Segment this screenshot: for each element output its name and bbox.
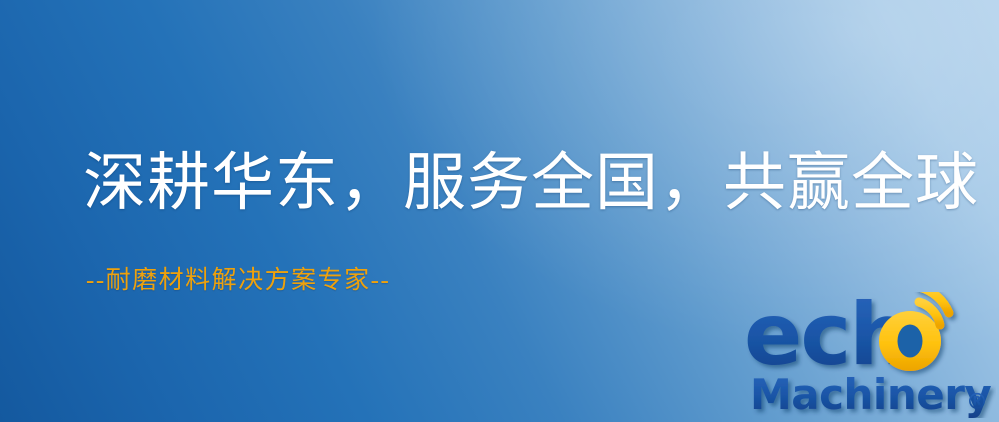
logo-letter-o-yellow bbox=[879, 311, 941, 371]
page-title: 深耕华东，服务全国，共赢全球 bbox=[83, 152, 979, 215]
logo-subword-machinery: Machinery bbox=[750, 370, 991, 418]
page-subtitle: --耐磨材料解决方案专家-- bbox=[86, 268, 390, 293]
echo-machinery-logo[interactable]: ech Machinery ® bbox=[744, 292, 996, 418]
hero-banner: 深耕华东，服务全国，共赢全球 --耐磨材料解决方案专家-- bbox=[0, 0, 999, 422]
registered-trademark-icon: ® bbox=[966, 390, 988, 415]
